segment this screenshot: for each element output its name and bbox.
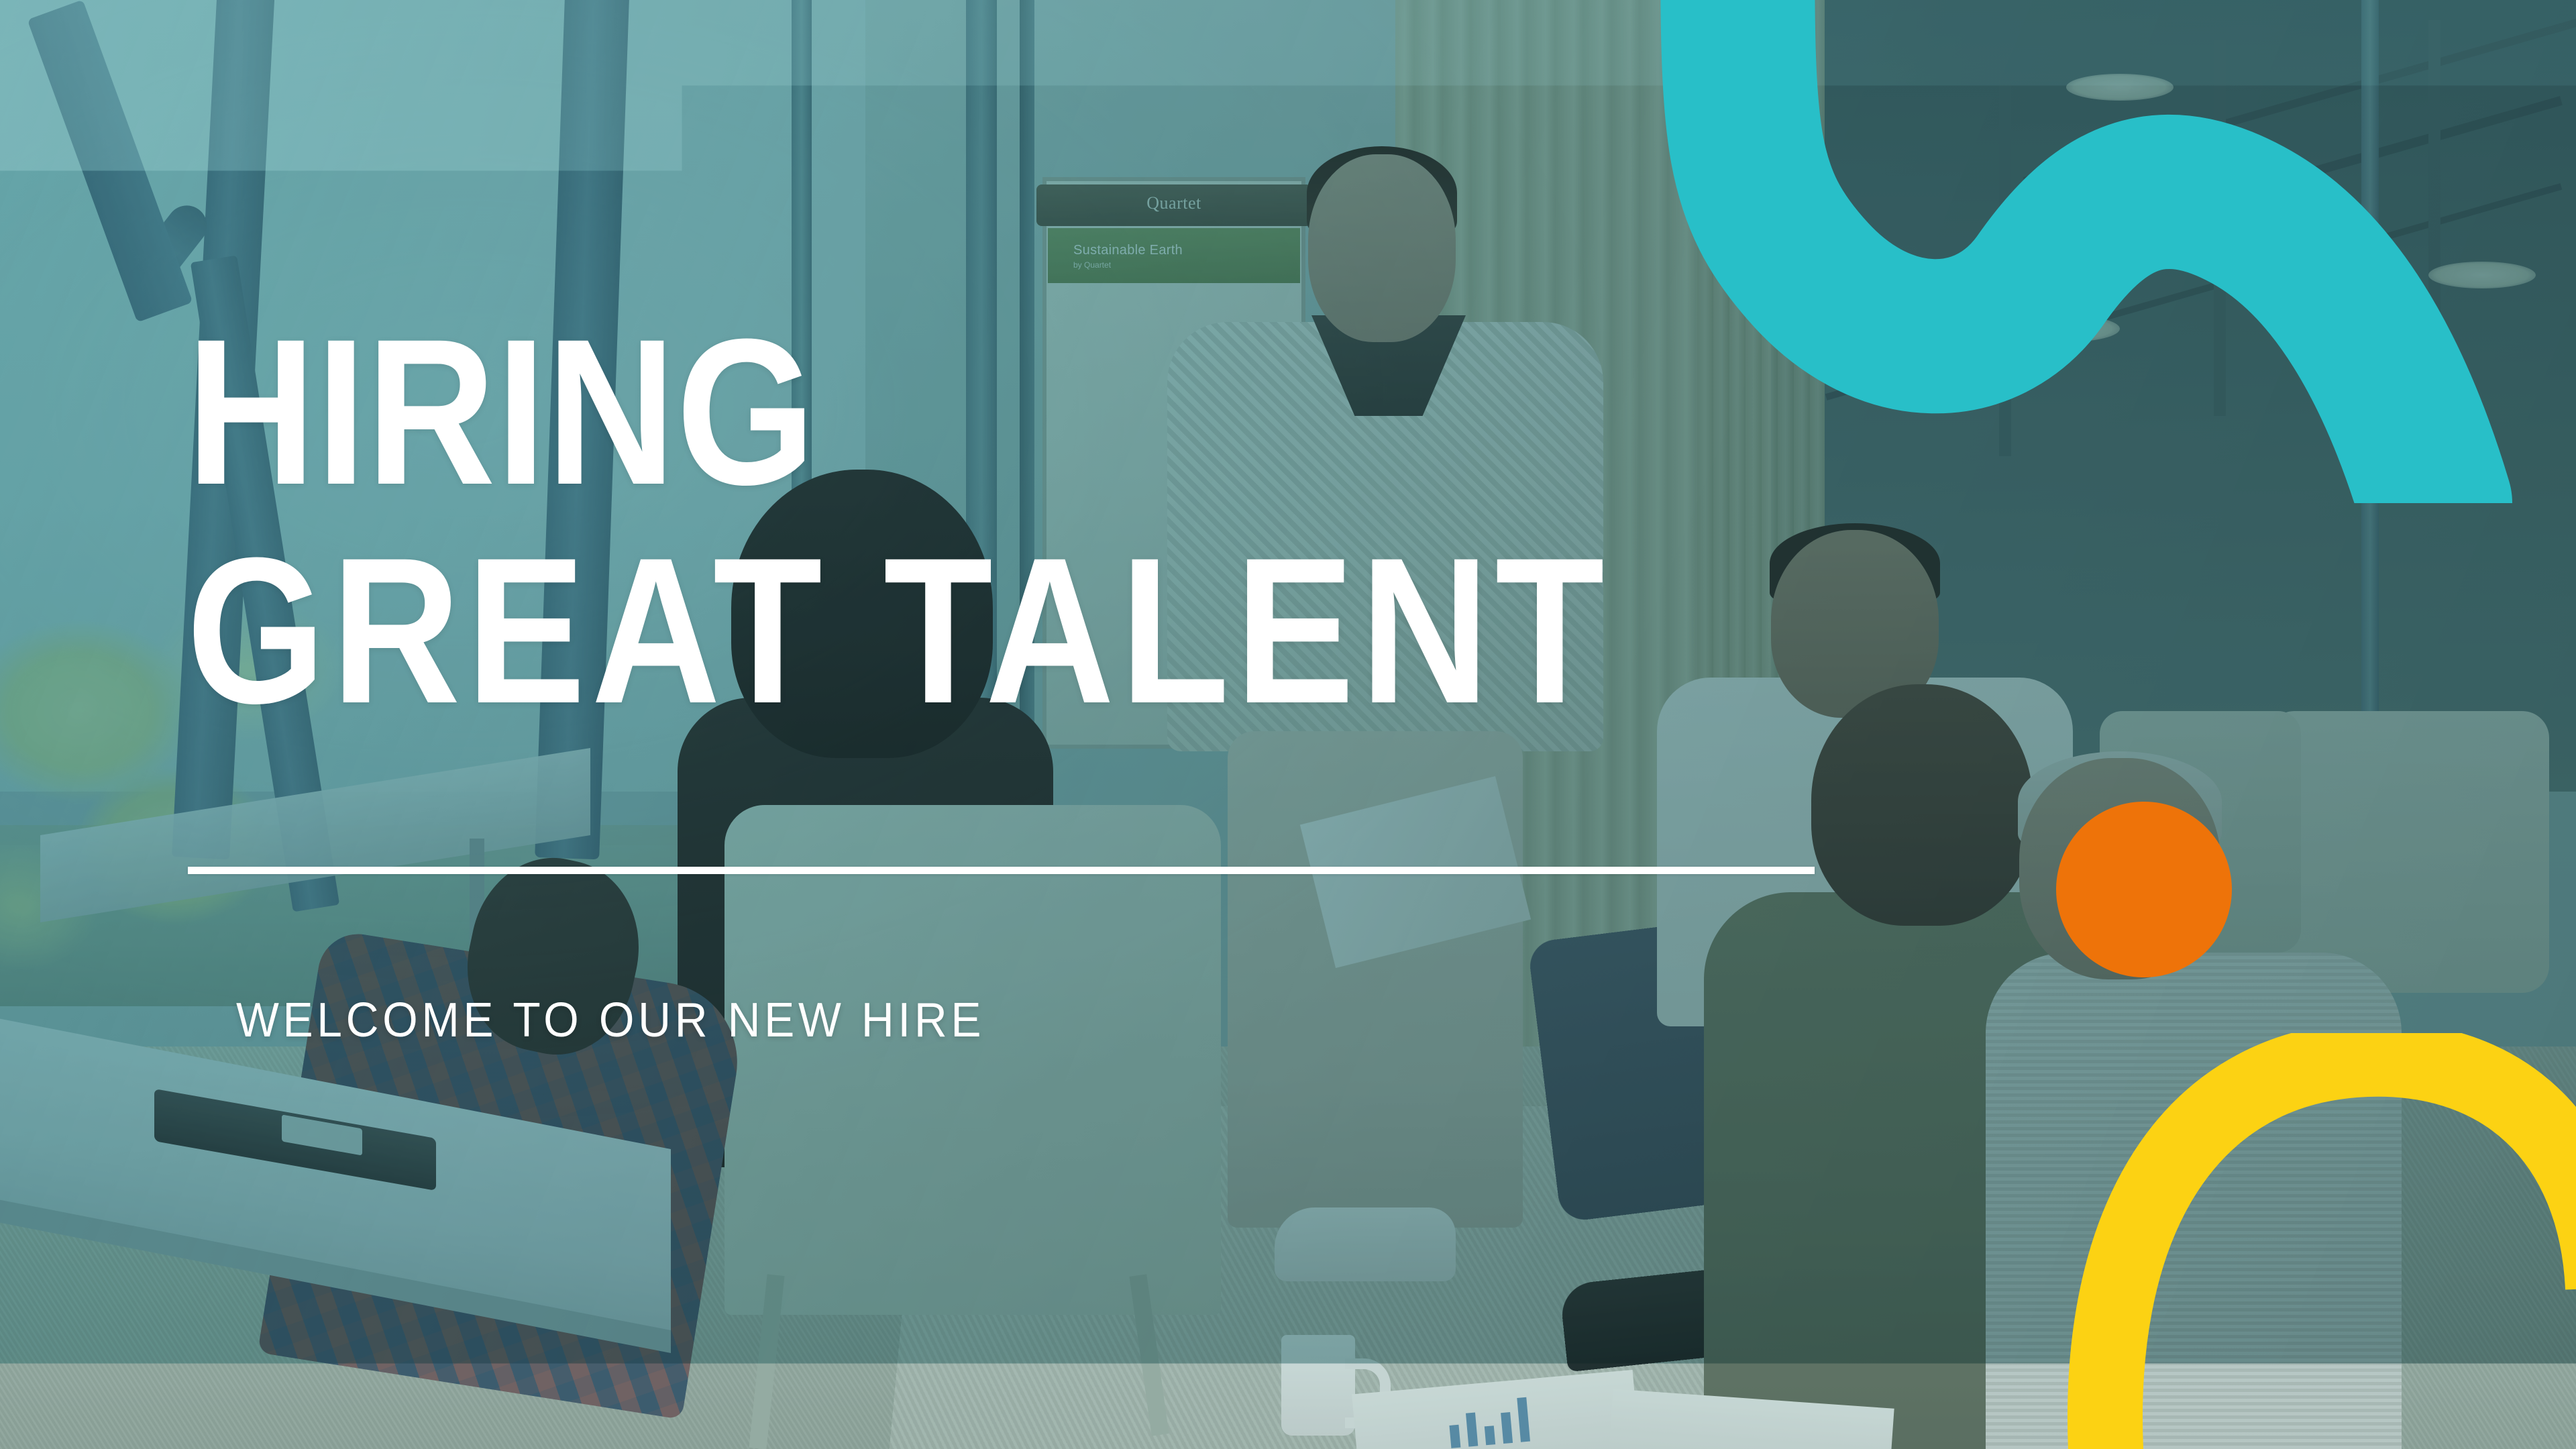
subtitle: Welcome to our new hire (236, 993, 985, 1048)
divider-rule (188, 867, 1815, 874)
headline-line-2: Great Talent (186, 529, 1917, 733)
orange-dot-icon (2056, 802, 2232, 977)
headline-line-1: Hiring (186, 310, 1917, 514)
banner-canvas: Quartet Sustainable Earth by Quartet (0, 0, 2576, 1449)
page-title: Hiring Great Talent (186, 310, 1917, 733)
yellow-arc-icon (2066, 1033, 2576, 1449)
